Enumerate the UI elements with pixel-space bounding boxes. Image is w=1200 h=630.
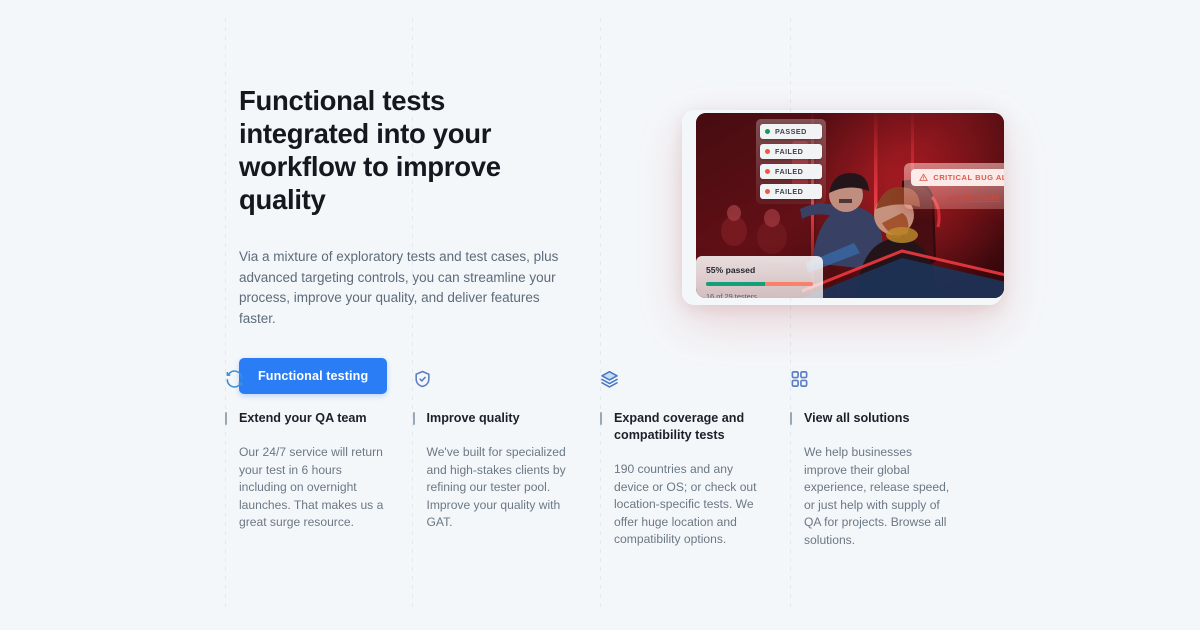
feature-card-improve-quality: Improve quality We've built for speciali…	[413, 366, 601, 550]
status-pill-label: FAILED	[775, 167, 803, 176]
status-pill-label: FAILED	[775, 187, 803, 196]
status-dot-fail-icon	[765, 149, 770, 154]
feature-body: We've built for specialized and high-sta…	[413, 444, 575, 532]
feature-heading: Expand coverage and compatibility tests	[600, 410, 764, 444]
critical-bug-alert-card: CRITICAL BUG ALLERT see full details	[904, 163, 1004, 209]
status-dot-pass-icon	[765, 129, 770, 134]
page-title: Functional tests integrated into your wo…	[239, 84, 579, 216]
grid-squares-icon	[790, 366, 809, 392]
see-full-details-link[interactable]: see full details	[911, 193, 1004, 202]
hero-subtitle: Via a mixture of exploratory tests and t…	[239, 247, 569, 329]
feature-heading: Extend your QA team	[225, 410, 387, 427]
alert-banner: CRITICAL BUG ALLERT	[911, 169, 1004, 186]
feature-body: 190 countries and any device or OS; or c…	[600, 461, 764, 549]
status-pill-label: PASSED	[775, 127, 807, 136]
feature-body: We help businesses improve their global …	[790, 444, 954, 550]
feature-body: Our 24/7 service will return your test i…	[225, 444, 387, 532]
pass-rate-fill	[706, 282, 765, 286]
status-pill: FAILED	[760, 164, 822, 179]
pass-rate-progress-bar	[706, 282, 813, 286]
hero-text-block: Functional tests integrated into your wo…	[239, 84, 579, 394]
status-pill: FAILED	[760, 144, 822, 159]
status-pill-label: FAILED	[775, 147, 803, 156]
pass-rate-subtitle: 16 of 29 testers	[706, 292, 813, 298]
landing-page-section: Functional tests integrated into your wo…	[0, 0, 1200, 630]
hero-illustration: PASSED FAILED FAILED FAILED	[668, 84, 1018, 316]
status-dot-fail-icon	[765, 169, 770, 174]
feature-card-extend-qa-team: Extend your QA team Our 24/7 service wil…	[225, 366, 413, 550]
status-pill: PASSED	[760, 124, 822, 139]
feature-columns: Extend your QA team Our 24/7 service wil…	[225, 366, 1175, 550]
warning-triangle-icon	[919, 173, 928, 182]
layers-stack-icon	[600, 366, 619, 392]
shield-check-icon	[413, 366, 432, 392]
hero-photo: PASSED FAILED FAILED FAILED	[696, 113, 1004, 298]
feature-card-view-all-solutions: View all solutions We help businesses im…	[790, 366, 980, 550]
pass-rate-title: 55% passed	[706, 265, 813, 275]
feature-heading: View all solutions	[790, 410, 954, 427]
refresh-sync-icon	[225, 366, 244, 392]
feature-heading: Improve quality	[413, 410, 575, 427]
alert-label: CRITICAL BUG ALLERT	[933, 173, 1004, 182]
feature-card-expand-coverage: Expand coverage and compatibility tests …	[600, 366, 790, 550]
status-pill: FAILED	[760, 184, 822, 199]
test-status-list: PASSED FAILED FAILED FAILED	[756, 119, 826, 204]
pass-rate-card: 55% passed 16 of 29 testers	[696, 256, 823, 298]
status-dot-fail-icon	[765, 189, 770, 194]
